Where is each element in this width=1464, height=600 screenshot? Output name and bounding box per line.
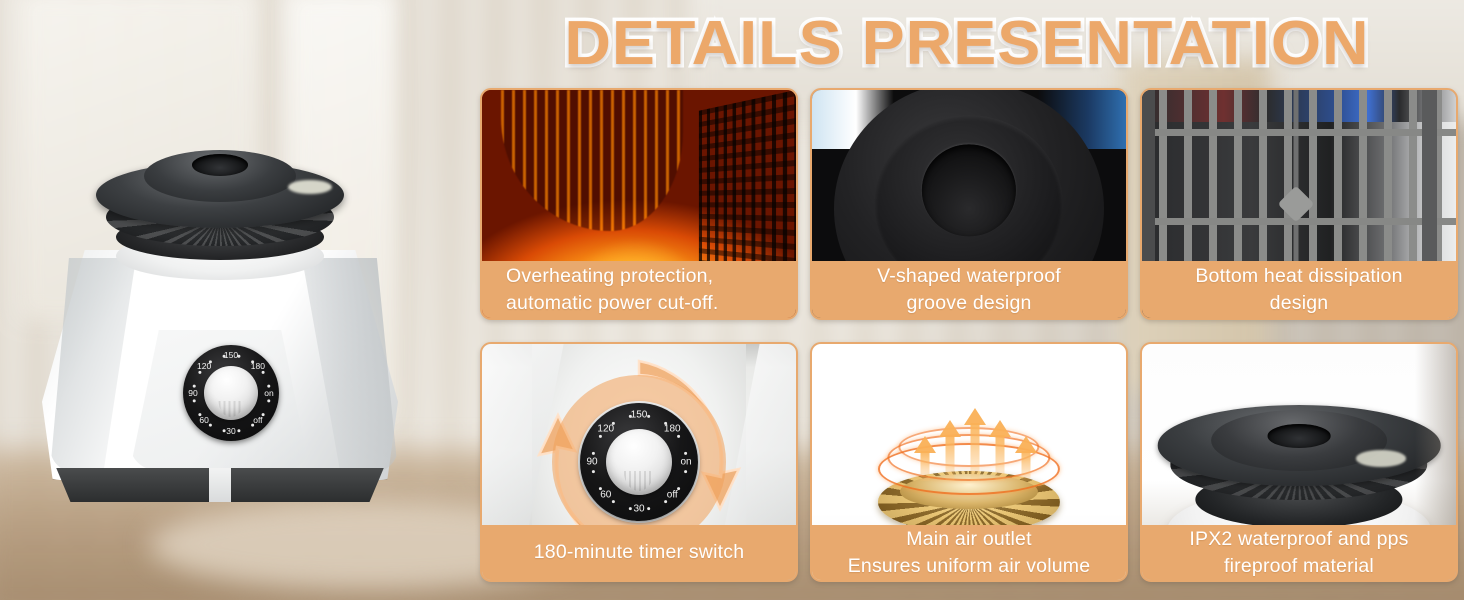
- dial-tick: [611, 421, 614, 424]
- feature-card-v-shaped-waterproof-groove[interactable]: V-shaped waterproof groove design: [810, 88, 1128, 320]
- dial-tick: [261, 413, 264, 416]
- dial-tick: [222, 429, 225, 432]
- caption-line: groove design: [906, 290, 1031, 317]
- caption-line: IPX2 waterproof and pps: [1189, 526, 1408, 553]
- dial-label-120: 120: [597, 423, 614, 434]
- feature-caption: Bottom heat dissipation design: [1142, 261, 1456, 318]
- dial-tick: [628, 414, 631, 417]
- dial-tick: [192, 399, 195, 402]
- cap-center-hole: [192, 154, 248, 176]
- dial-tick: [198, 413, 201, 416]
- dial-tick: [591, 470, 594, 473]
- timer-dial[interactable]: 15012018090on60off30: [183, 345, 279, 441]
- dial-tick: [598, 487, 601, 490]
- dial-label-30: 30: [633, 504, 644, 515]
- dial-tick: [237, 354, 240, 357]
- page-title: DETAILS PRESENTATION: [450, 6, 1464, 80]
- dial-tick: [664, 421, 667, 424]
- dial-tick: [251, 423, 254, 426]
- hero-product-image: 15012018090on60off30: [20, 140, 420, 520]
- caption-line: V-shaped waterproof: [877, 263, 1061, 290]
- dial-tick: [208, 360, 211, 363]
- dial-tick: [261, 370, 264, 373]
- dial-label-on: on: [264, 388, 273, 398]
- dial-knob[interactable]: [606, 429, 672, 495]
- dial-label-60: 60: [600, 490, 611, 501]
- feature-caption: V-shaped waterproof groove design: [812, 261, 1126, 318]
- dial-tick: [237, 429, 240, 432]
- promo-banner: DETAILS PRESENTATION 15012018090on60off3…: [0, 0, 1464, 600]
- dial-tick: [611, 500, 614, 503]
- dial-tick: [647, 414, 650, 417]
- caption-line: Main air outlet: [906, 526, 1031, 553]
- dial-tick: [628, 507, 631, 510]
- feature-caption: 180-minute timer switch: [482, 525, 796, 580]
- dial-tick: [684, 451, 687, 454]
- dial-tick: [684, 470, 687, 473]
- feature-card-timer-switch[interactable]: 15012018090on60off30 180-minute timer sw…: [480, 342, 798, 582]
- dial-tick: [677, 487, 680, 490]
- caption-line: 180-minute timer switch: [534, 539, 745, 566]
- caption-line: design: [1270, 290, 1329, 317]
- caption-line: Overheating protection,: [506, 263, 713, 290]
- dial-label-90: 90: [586, 457, 597, 468]
- caption-line: Bottom heat dissipation: [1195, 263, 1402, 290]
- timer-dial-closeup[interactable]: 15012018090on60off30: [580, 403, 698, 521]
- feature-card-bottom-heat-dissipation[interactable]: Bottom heat dissipation design: [1140, 88, 1458, 320]
- dial-label-90: 90: [188, 388, 197, 398]
- dial-knob[interactable]: [204, 366, 258, 420]
- dial-label-off: off: [667, 490, 678, 501]
- caption-line: automatic power cut-off.: [506, 290, 719, 317]
- dial-tick: [192, 384, 195, 387]
- caption-line: fireproof material: [1224, 553, 1374, 580]
- cap-highlight: [288, 180, 332, 194]
- feature-card-main-air-outlet[interactable]: Main air outlet Ensures uniform air volu…: [810, 342, 1128, 582]
- dial-tick: [208, 423, 211, 426]
- feature-card-overheating-protection[interactable]: Overheating protection, automatic power …: [480, 88, 798, 320]
- dial-tick: [267, 399, 270, 402]
- feature-caption: Main air outlet Ensures uniform air volu…: [812, 525, 1126, 580]
- dial-tick: [251, 360, 254, 363]
- dial-tick: [591, 451, 594, 454]
- dial-label-off: off: [253, 415, 262, 425]
- feature-caption: IPX2 waterproof and pps fireproof materi…: [1142, 525, 1456, 580]
- dial-label-180: 180: [664, 423, 681, 434]
- dial-tick: [198, 370, 201, 373]
- dial-tick: [598, 434, 601, 437]
- dial-tick: [664, 500, 667, 503]
- base-foot-gap: [209, 468, 231, 502]
- dial-label-150: 150: [631, 410, 648, 421]
- dial-tick: [222, 354, 225, 357]
- dial-tick: [677, 434, 680, 437]
- dial-label-30: 30: [226, 426, 235, 436]
- caption-line: Ensures uniform air volume: [848, 553, 1091, 580]
- dial-tick: [647, 507, 650, 510]
- dial-tick: [267, 384, 270, 387]
- feature-card-ipx2-waterproof-pps[interactable]: IPX2 waterproof and pps fireproof materi…: [1140, 342, 1458, 582]
- dial-label-on: on: [680, 457, 691, 468]
- feature-caption: Overheating protection, automatic power …: [482, 261, 796, 318]
